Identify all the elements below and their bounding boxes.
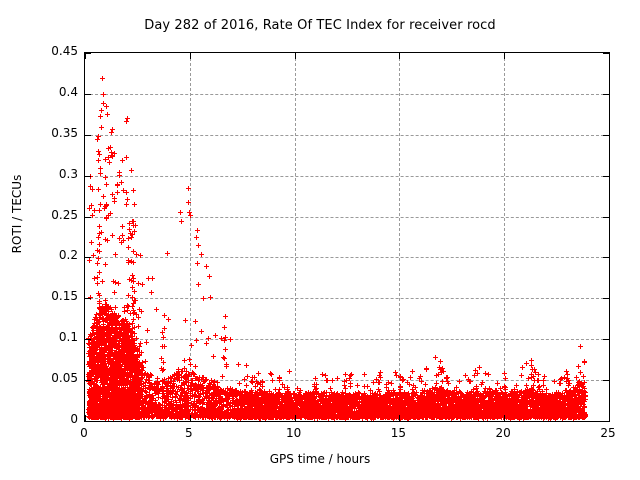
- x-tick-mark: [504, 53, 505, 59]
- x-tick-mark: [190, 53, 191, 59]
- x-tick-mark: [399, 415, 400, 421]
- y-tick-mark: [85, 421, 91, 422]
- y-tick-mark: [85, 380, 91, 381]
- x-tick-label: 15: [378, 426, 418, 440]
- x-tick-mark: [85, 53, 86, 59]
- x-axis-label: GPS time / hours: [0, 452, 640, 466]
- y-tick-label: 0: [32, 412, 78, 426]
- x-tick-label: 10: [274, 426, 314, 440]
- y-tick-label: 0.3: [32, 167, 78, 181]
- y-tick-mark: [603, 380, 609, 381]
- y-tick-mark: [603, 298, 609, 299]
- y-tick-mark: [85, 217, 91, 218]
- y-tick-mark: [603, 257, 609, 258]
- x-tick-mark: [190, 415, 191, 421]
- scatter-points-layer: [85, 53, 609, 421]
- y-tick-mark: [85, 135, 91, 136]
- plot-frame: [84, 52, 610, 422]
- y-tick-mark: [603, 217, 609, 218]
- y-tick-mark: [85, 298, 91, 299]
- y-tick-label: 0.1: [32, 330, 78, 344]
- x-tick-label: 0: [64, 426, 104, 440]
- y-tick-mark: [603, 339, 609, 340]
- y-tick-mark: [85, 257, 91, 258]
- y-tick-label: 0.35: [32, 126, 78, 140]
- y-tick-mark: [603, 94, 609, 95]
- x-tick-mark: [85, 415, 86, 421]
- x-tick-mark: [399, 53, 400, 59]
- x-tick-mark: [609, 53, 610, 59]
- x-tick-mark: [295, 415, 296, 421]
- y-tick-mark: [85, 176, 91, 177]
- y-tick-label: 0.25: [32, 208, 78, 222]
- y-tick-label: 0.45: [32, 44, 78, 58]
- y-tick-mark: [603, 421, 609, 422]
- y-tick-label: 0.05: [32, 371, 78, 385]
- scatter-marker-set: [86, 76, 588, 421]
- x-tick-label: 20: [483, 426, 523, 440]
- y-axis-label: ROTI / TECUs: [10, 134, 24, 294]
- x-tick-mark: [609, 415, 610, 421]
- chart-title: Day 282 of 2016, Rate Of TEC Index for r…: [0, 18, 640, 33]
- x-tick-label: 25: [588, 426, 628, 440]
- x-tick-label: 5: [169, 426, 209, 440]
- y-tick-mark: [603, 135, 609, 136]
- chart-canvas: Day 282 of 2016, Rate Of TEC Index for r…: [0, 0, 640, 480]
- x-tick-mark: [504, 415, 505, 421]
- x-tick-mark: [295, 53, 296, 59]
- y-tick-mark: [85, 94, 91, 95]
- y-tick-label: 0.2: [32, 248, 78, 262]
- y-tick-label: 0.15: [32, 289, 78, 303]
- y-tick-label: 0.4: [32, 85, 78, 99]
- y-tick-mark: [603, 176, 609, 177]
- y-tick-mark: [85, 339, 91, 340]
